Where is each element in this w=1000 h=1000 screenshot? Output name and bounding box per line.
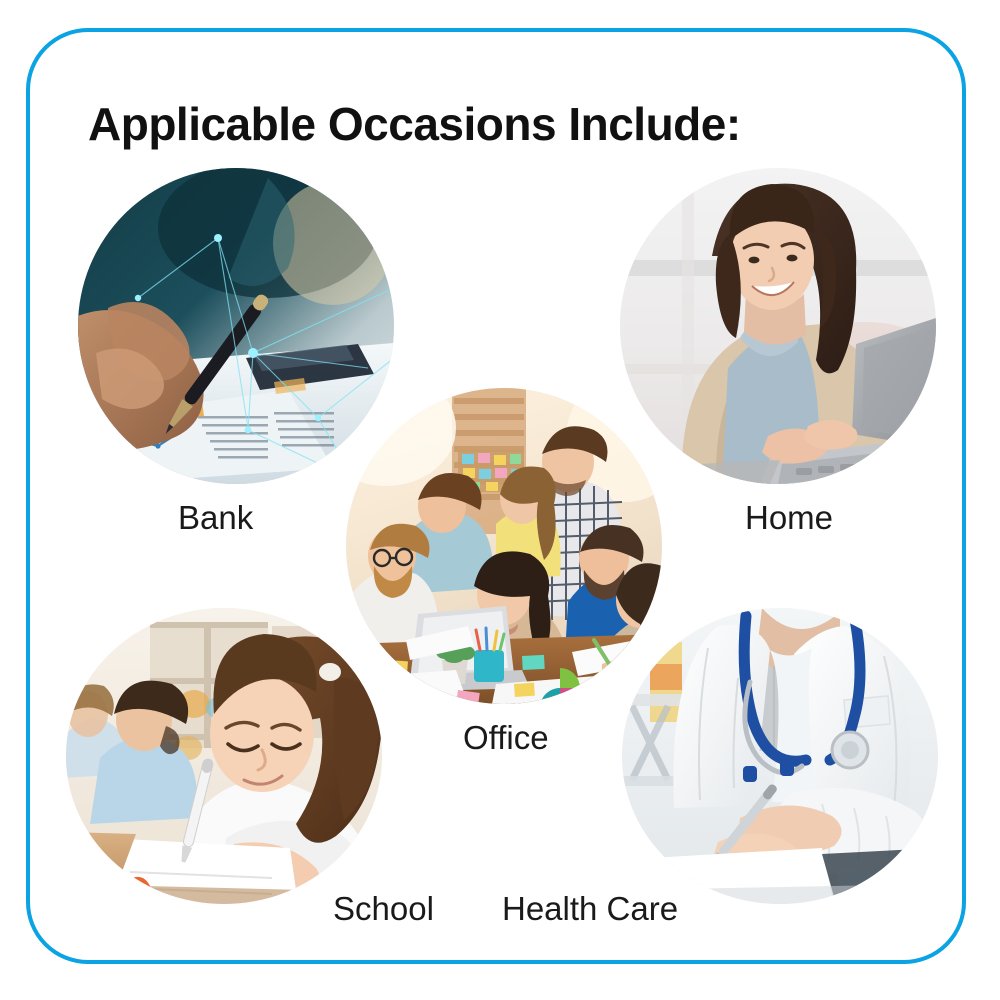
occasion-image-health-care: [622, 608, 938, 904]
occasion-label-school: School: [333, 890, 434, 928]
occasion-image-bank: [78, 168, 394, 484]
occasion-label-office: Office: [463, 719, 549, 757]
bank-illustration: [78, 168, 394, 484]
occasion-image-home: [620, 168, 936, 484]
school-illustration: [66, 608, 382, 904]
page-title: Applicable Occasions Include:: [88, 97, 741, 151]
health-care-illustration: [622, 608, 938, 904]
occasion-image-school: [66, 608, 382, 904]
occasion-label-home: Home: [745, 499, 833, 537]
office-illustration: [346, 388, 662, 704]
occasion-label-bank: Bank: [178, 499, 253, 537]
occasion-image-office: [346, 388, 662, 704]
home-illustration: [620, 168, 936, 484]
promo-infographic: Applicable Occasions Include:: [0, 0, 1000, 1000]
occasion-label-health-care: Health Care: [502, 890, 678, 928]
